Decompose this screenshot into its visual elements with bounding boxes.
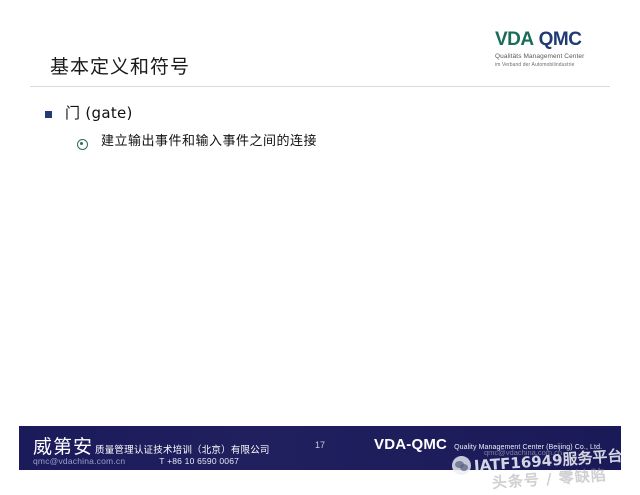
slide-footer: 威第安 质量管理认证技术培训（北京）有限公司 qmc@vdachina.com.… xyxy=(19,426,621,470)
logo-vda-text: VDA xyxy=(495,29,534,50)
footer-email: qmc@vdachina.com.cn xyxy=(33,456,125,466)
circle-bullet-icon xyxy=(77,139,88,150)
square-bullet-icon xyxy=(45,111,52,118)
page-title: 基本定义和符号 xyxy=(50,52,190,79)
bullet-level1-label: 门 (gate) xyxy=(65,104,133,124)
logo-wordmark: VDAQMC xyxy=(495,30,620,49)
bullet-level2-label: 建立输出事件和输入事件之间的连接 xyxy=(101,134,317,151)
slide-canvas: VDAQMC Qualitäts Management Center im Ve… xyxy=(0,0,640,495)
vda-qmc-logo: VDAQMC Qualitäts Management Center im Ve… xyxy=(495,30,620,68)
footer-vda-qmc-block: VDA-QMC Quality Management Center (Beiji… xyxy=(374,436,602,453)
footer-vda-qmc-title: VDA-QMC xyxy=(374,436,447,453)
footer-company-name: 威第安 质量管理认证技术培训（北京）有限公司 xyxy=(33,432,270,459)
footer-phone: T +86 10 6590 0067 xyxy=(159,456,239,466)
logo-qmc-text: QMC xyxy=(539,29,582,50)
footer-vda-qmc-subtitle: Quality Management Center (Beijing) Co.,… xyxy=(454,444,602,451)
page-number: 17 xyxy=(315,440,325,450)
title-divider xyxy=(30,86,610,87)
slide-body: 门 (gate) 建立输出事件和输入事件之间的连接 xyxy=(45,104,605,150)
footer-brand-main: 威第安 xyxy=(33,432,93,459)
logo-subtitle-line2: im Verband der Automobilindustrie xyxy=(495,62,620,68)
list-item: 门 (gate) xyxy=(45,104,605,124)
logo-subtitle-line1: Qualitäts Management Center xyxy=(495,53,620,60)
footer-brand-full: 质量管理认证技术培训（北京）有限公司 xyxy=(95,442,270,456)
footer-contact: qmc@vdachina.com.cn T +86 10 6590 0067 xyxy=(33,456,239,466)
list-item: 建立输出事件和输入事件之间的连接 xyxy=(77,134,605,151)
